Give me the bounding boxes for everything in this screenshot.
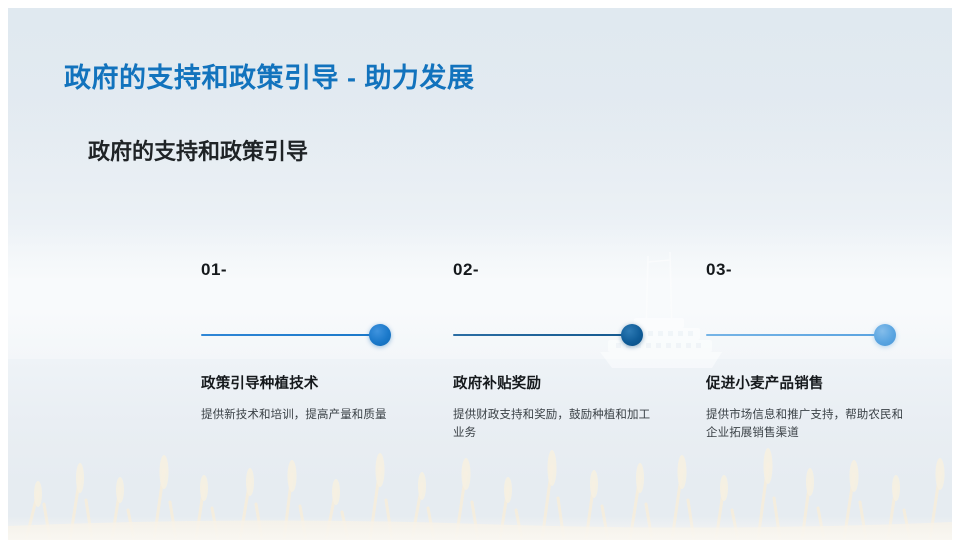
timeline-dot-icon [874,324,896,346]
timeline-connector [445,320,660,350]
column-heading: 促进小麦产品销售 [706,372,913,393]
column-number: 03- [706,258,913,282]
column-heading: 政府补贴奖励 [453,372,660,393]
column-item: 03- 促进小麦产品销售 提供市场信息和推广支持，帮助农民和企业拓展销售渠道 [698,258,913,443]
column-number: 01- [201,258,408,282]
timeline-line [706,334,886,336]
timeline-connector [193,320,408,350]
timeline-dot-icon [621,324,643,346]
column-body-text: 提供新技术和培训，提高产量和质量 [201,407,399,425]
column-heading: 政策引导种植技术 [201,372,408,393]
timeline-dot-icon [369,324,391,346]
slide-canvas: 政府的支持和政策引导 - 助力发展 政府的支持和政策引导 01- 政策引导种植技… [8,8,952,540]
column-number: 02- [453,258,660,282]
column-item: 01- 政策引导种植技术 提供新技术和培训，提高产量和质量 [193,258,408,425]
timeline-line [453,334,633,336]
columns-container: 01- 政策引导种植技术 提供新技术和培训，提高产量和质量 02- 政府补贴奖励… [8,8,952,540]
column-body-text: 提供市场信息和推广支持，帮助农民和企业拓展销售渠道 [706,407,904,443]
column-item: 02- 政府补贴奖励 提供财政支持和奖励，鼓励种植和加工业务 [445,258,660,443]
timeline-connector [698,320,913,350]
timeline-line [201,334,381,336]
column-body-text: 提供财政支持和奖励，鼓励种植和加工业务 [453,407,651,443]
